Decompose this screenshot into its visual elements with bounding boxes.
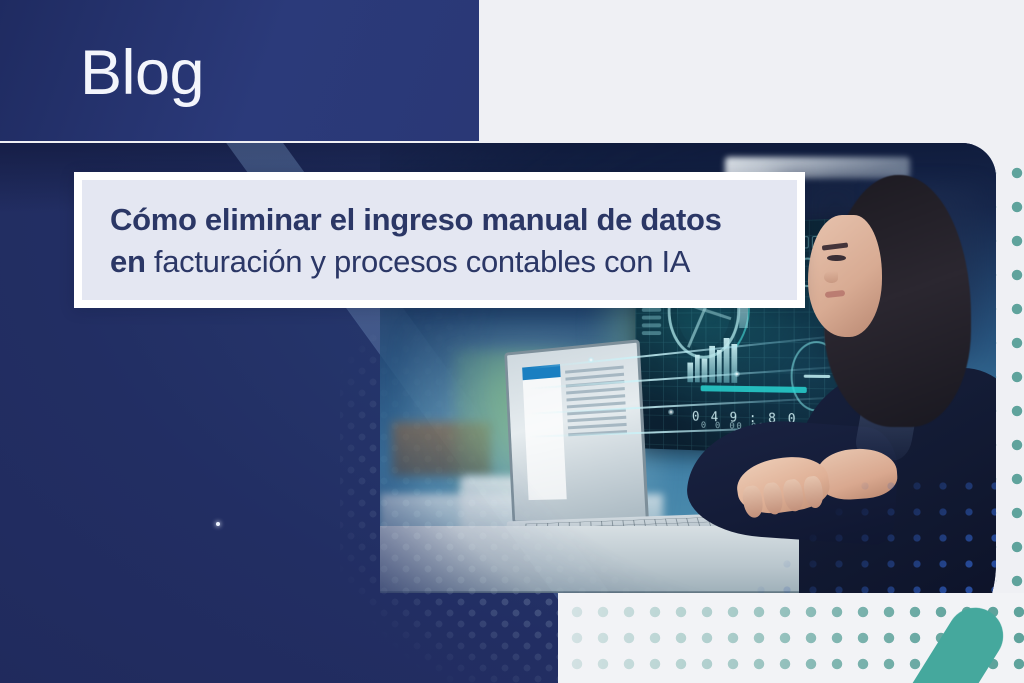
article-title-line-1: Cómo eliminar el ingreso manual de datos xyxy=(110,199,769,241)
laptop-screen xyxy=(504,339,648,523)
header-block: Blog xyxy=(0,0,479,141)
laptop-text-lines xyxy=(566,365,631,493)
woman-face xyxy=(808,215,882,337)
title-card-inner: Cómo eliminar el ingreso manual de datos… xyxy=(82,180,797,300)
blog-banner: Blog xyxy=(0,0,1024,683)
title-card: Cómo eliminar el ingreso manual de datos… xyxy=(74,172,805,308)
woman-nose xyxy=(824,271,839,283)
article-title-line-2: en facturación y procesos contables con … xyxy=(110,241,769,283)
section-label: Blog xyxy=(80,42,204,105)
monitor-bar-chart xyxy=(688,332,737,382)
laptop-app-header xyxy=(523,363,561,380)
decorative-sparkle xyxy=(216,522,220,526)
right-edge-dot-column xyxy=(996,148,1024,600)
article-title-line-2-rest: facturación y procesos contables con IA xyxy=(146,244,691,279)
article-title-line-2-bold: en xyxy=(110,244,146,279)
laptop-app-panel xyxy=(523,363,567,500)
